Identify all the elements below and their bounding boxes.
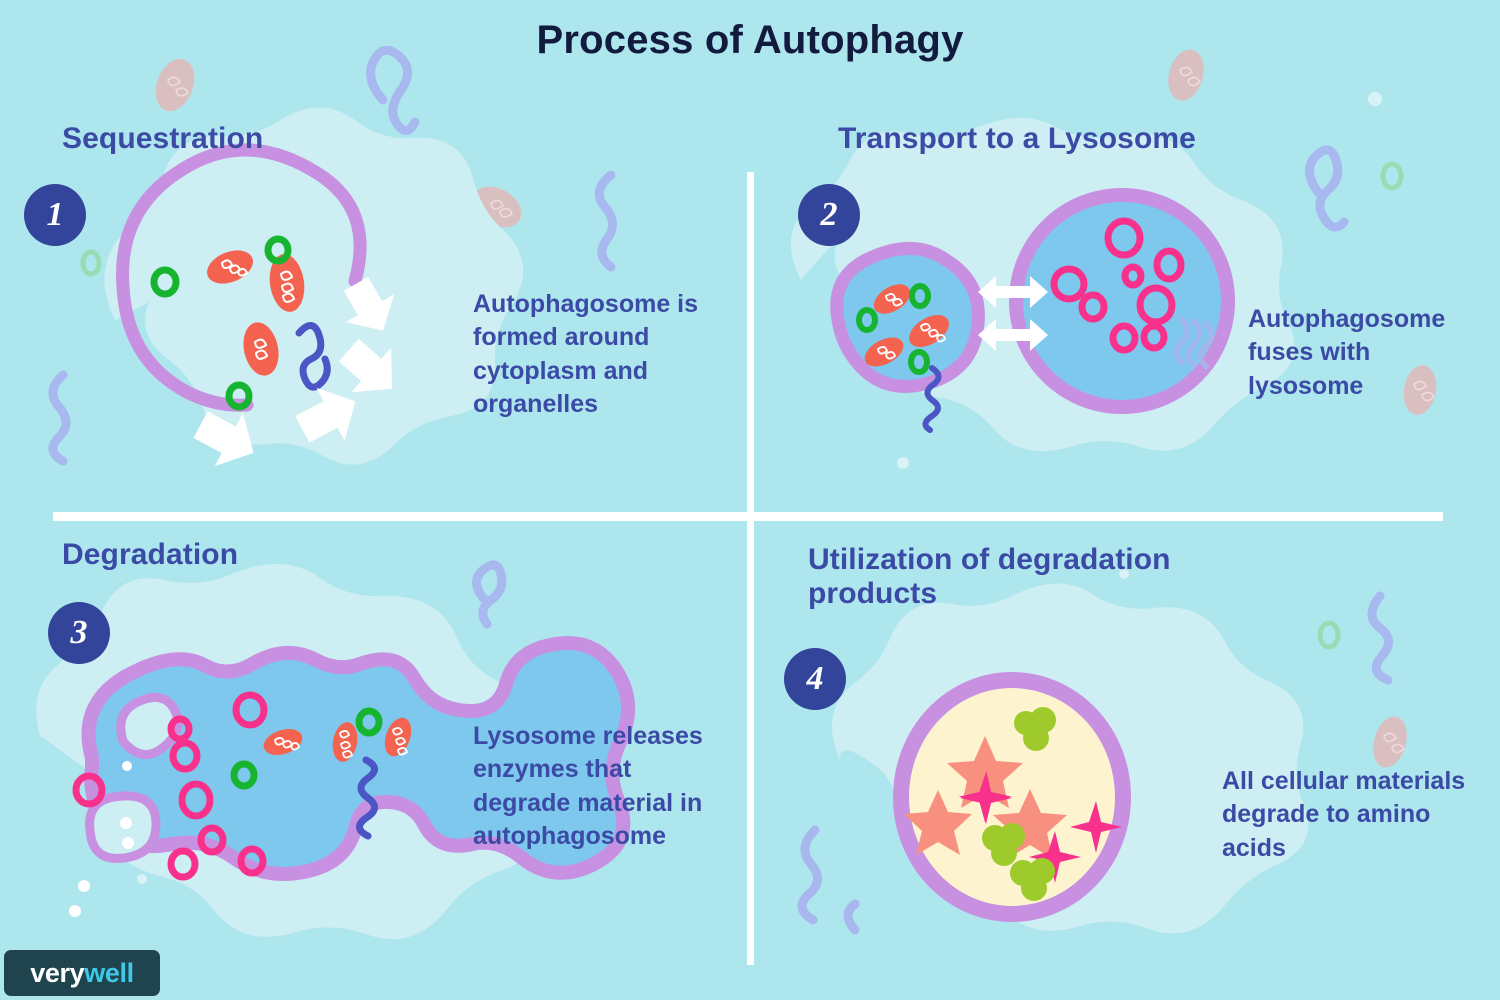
panel-3-heading: Degradation	[62, 538, 238, 572]
logo-text-well: well	[84, 958, 133, 989]
vertical-divider	[747, 172, 754, 965]
panel-2-caption: Autophagosome fuses with lysosome	[1248, 303, 1488, 403]
page-title: Process of Autophagy	[0, 18, 1500, 63]
verywell-logo[interactable]: verywell	[4, 950, 160, 996]
panel-4-heading: Utilization of degradation products	[808, 543, 1228, 611]
infographic-canvas: Process of Autophagy Sequestration 1 Aut…	[0, 0, 1500, 1000]
panel-2-heading: Transport to a Lysosome	[838, 122, 1196, 156]
panel-1-heading: Sequestration	[62, 122, 263, 156]
panel-4-caption: All cellular materials degrade to amino …	[1222, 765, 1484, 865]
logo-text-very: very	[30, 958, 84, 989]
panel-4-step-badge: 4	[784, 648, 846, 710]
panel-1-step-badge: 1	[24, 184, 86, 246]
panel-3-step-badge: 3	[48, 602, 110, 664]
panel-3-caption: Lysosome releases enzymes that degrade m…	[473, 720, 723, 853]
panel-2-step-badge: 2	[798, 184, 860, 246]
panel-1-caption: Autophagosome is formed around cytoplasm…	[473, 288, 718, 421]
horizontal-divider	[53, 512, 1443, 521]
